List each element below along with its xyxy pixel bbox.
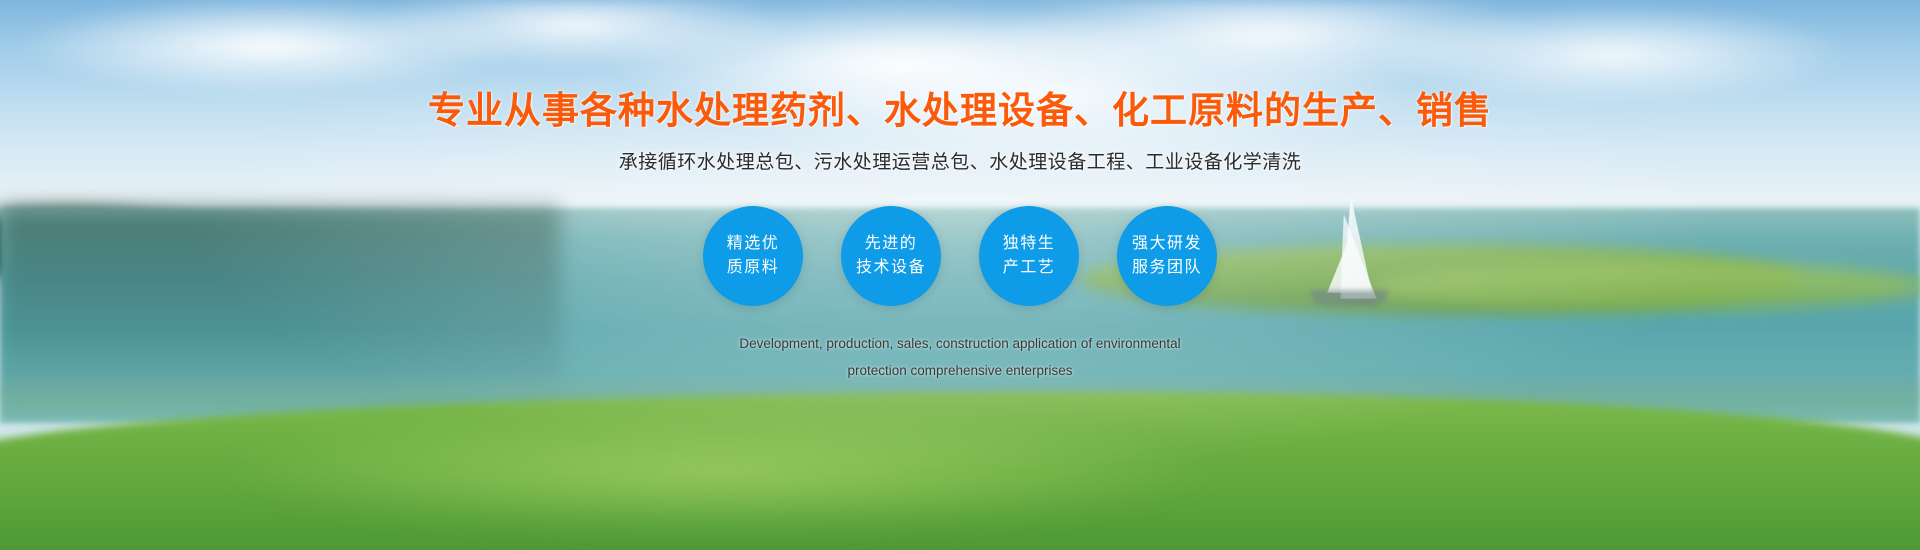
feature-circle-line1: 强大研发	[1132, 232, 1202, 256]
banner-headline: 专业从事各种水处理药剂、水处理设备、化工原料的生产、销售	[0, 80, 1920, 134]
english-tagline: Development, production, sales, construc…	[0, 330, 1920, 384]
feature-circle-line2: 服务团队	[1132, 256, 1202, 280]
feature-circle-list: 精选优 质原料 先进的 技术设备 独特生 产工艺 强大研发 服务团队	[0, 206, 1920, 306]
english-tagline-line2: protection comprehensive enterprises	[0, 357, 1920, 384]
banner-subheadline: 承接循环水处理总包、污水处理运营总包、水处理设备工程、工业设备化学清洗	[0, 147, 1920, 174]
english-tagline-line1: Development, production, sales, construc…	[0, 330, 1920, 357]
feature-circle[interactable]: 先进的 技术设备	[841, 206, 941, 306]
feature-circle[interactable]: 强大研发 服务团队	[1117, 206, 1217, 306]
hero-banner: 专业从事各种水处理药剂、水处理设备、化工原料的生产、销售 承接循环水处理总包、污…	[0, 0, 1920, 550]
feature-circle-line1: 独特生	[1003, 232, 1056, 256]
feature-circle-line2: 技术设备	[856, 256, 926, 280]
feature-circle[interactable]: 精选优 质原料	[703, 206, 803, 306]
feature-circle[interactable]: 独特生 产工艺	[979, 206, 1079, 306]
banner-content: 专业从事各种水处理药剂、水处理设备、化工原料的生产、销售 承接循环水处理总包、污…	[0, 0, 1920, 550]
feature-circle-line2: 产工艺	[1003, 256, 1056, 280]
feature-circle-line1: 精选优	[727, 232, 780, 256]
feature-circle-line1: 先进的	[865, 232, 918, 256]
feature-circle-line2: 质原料	[727, 256, 780, 280]
